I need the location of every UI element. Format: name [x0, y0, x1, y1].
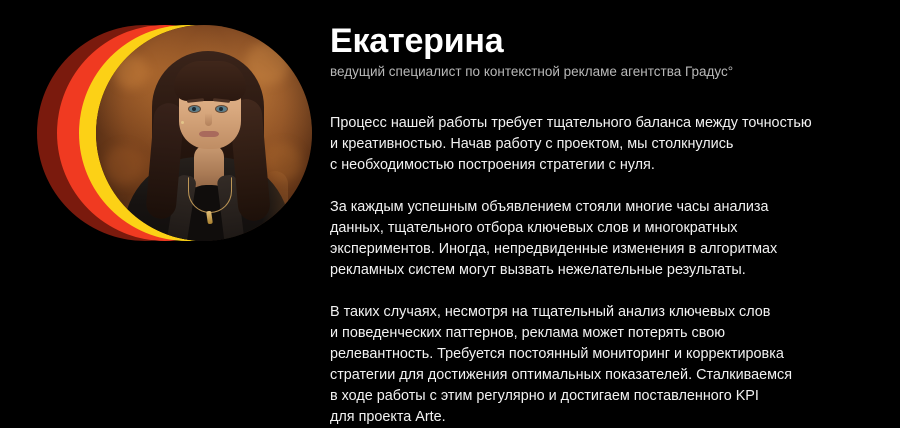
paragraph: За каждым успешным объявлением стояли мн…: [330, 197, 875, 281]
mouth: [199, 131, 219, 137]
text-column: Екатерина ведущий специалист по контекст…: [330, 0, 890, 423]
earring: [181, 121, 184, 124]
eye-left: [189, 106, 200, 112]
eye-right: [216, 106, 227, 112]
testimonial-slide: Екатерина ведущий специалист по контекст…: [0, 0, 900, 423]
paragraph: В таких случаях, несмотря на тщательный …: [330, 302, 875, 428]
profile-role: ведущий специалист по контекстной реклам…: [330, 63, 733, 81]
portrait-block: [0, 0, 320, 423]
paragraph: Процесс нашей работы требует тщательного…: [330, 113, 875, 176]
hair-front: [174, 61, 246, 101]
person-figure: [96, 25, 312, 241]
nose: [205, 113, 212, 126]
profile-name: Екатерина: [330, 22, 503, 60]
testimonial-body: Процесс нашей работы требует тщательного…: [330, 113, 875, 428]
profile-photo: [96, 25, 312, 241]
